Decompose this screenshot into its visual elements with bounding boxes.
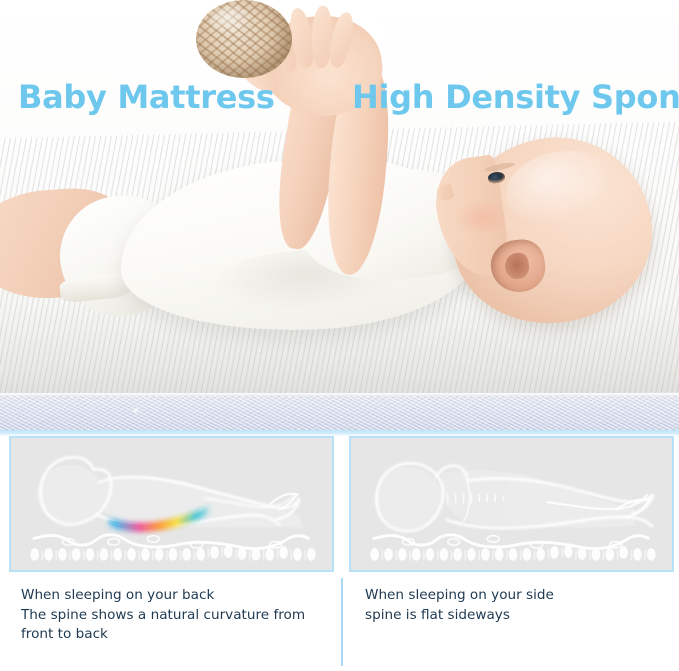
panel-sleeping-on-back: When sleeping on your back The spine sho… xyxy=(9,436,334,671)
illustration-side-sleeping xyxy=(349,436,674,572)
back-sleeping-diagram xyxy=(11,438,332,570)
panel-caption-side: When sleeping on your side spine is flat… xyxy=(349,586,674,625)
rattan-ball-highlight xyxy=(210,6,252,34)
illustration-back-sleeping xyxy=(9,436,334,572)
comparison-panels: When sleeping on your back The spine sho… xyxy=(0,436,679,671)
panel-sleeping-on-side: When sleeping on your side spine is flat… xyxy=(349,436,674,671)
baby-cheek xyxy=(455,200,509,236)
high-density-sponge-layer xyxy=(0,396,679,432)
baby-photo-subject xyxy=(0,0,679,400)
product-infographic: Baby Mattress High Density Sponge xyxy=(0,0,679,671)
hero-title-left: Baby Mattress xyxy=(18,78,275,116)
panel-divider xyxy=(341,578,343,666)
side-sleeping-diagram xyxy=(351,438,672,570)
hero-title-right: High Density Sponge xyxy=(352,78,679,116)
panel-caption-back: When sleeping on your back The spine sho… xyxy=(9,586,334,645)
hero-photo: Baby Mattress High Density Sponge xyxy=(0,0,679,400)
